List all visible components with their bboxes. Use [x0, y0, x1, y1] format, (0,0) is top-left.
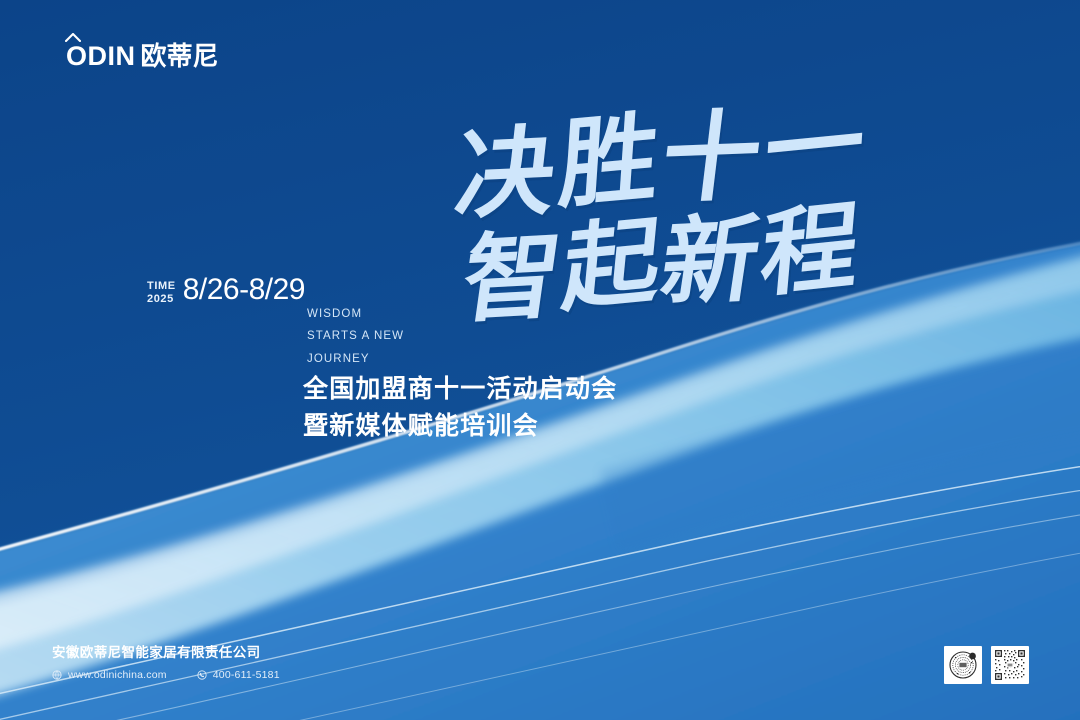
english-tagline: WISDOM STARTS A NEW JOURNEY [307, 303, 404, 370]
time-label: TIME 2025 [147, 275, 176, 306]
headline-char: 智 [457, 227, 569, 328]
footer-block: 安徽欧蒂尼智能家居有限责任公司 www.odinichina.com 400-6… [52, 644, 280, 681]
mini-program-qr[interactable] [991, 646, 1029, 684]
headline-char: 十 [656, 107, 770, 209]
headline-calligraphy: 决胜十一 智起新程 [440, 104, 940, 344]
headline-char: 起 [558, 212, 667, 317]
event-date-block: TIME 2025 8/26-8/29 [147, 275, 305, 306]
time-label-word: TIME [147, 280, 176, 293]
headline-char: 胜 [556, 108, 666, 215]
round-qr-icon [946, 648, 980, 682]
contact-line: www.odinichina.com 400-611-5181 [52, 669, 280, 681]
headline-char: 一 [762, 94, 871, 202]
headline-char: 决 [451, 123, 565, 226]
brand-logo: ODIN 欧蒂尼 [66, 43, 219, 70]
brand-logo-latin-text: ODIN [66, 41, 136, 71]
date-range: 8/26-8/29 [183, 275, 305, 305]
square-qr-icon [993, 648, 1027, 682]
wechat-official-account-qr[interactable] [944, 646, 982, 684]
company-name: 安徽欧蒂尼智能家居有限责任公司 [52, 644, 280, 663]
website-text[interactable]: www.odinichina.com [68, 669, 167, 681]
english-tagline-line-2: STARTS A NEW [307, 325, 404, 347]
event-subtitle: 全国加盟商十一活动启动会 暨新媒体赋能培训会 [303, 370, 617, 444]
brand-logo-latin: ODIN [66, 43, 136, 70]
time-label-year: 2025 [147, 293, 176, 306]
event-subtitle-line-1: 全国加盟商十一活动启动会 [303, 370, 617, 407]
phone-text[interactable]: 400-611-5181 [213, 669, 280, 681]
english-tagline-line-3: JOURNEY [307, 348, 404, 370]
headline-char: 程 [757, 197, 865, 303]
headline-char: 新 [655, 211, 768, 311]
brand-logo-cjk: 欧蒂尼 [141, 44, 219, 70]
poster-canvas: ODIN 欧蒂尼 决胜十一 智起新程 TIME 2025 8/26-8/29 W… [0, 0, 1080, 720]
english-tagline-line-1: WISDOM [307, 303, 404, 325]
qr-code-group [944, 646, 1029, 684]
phone-icon [197, 670, 207, 680]
globe-icon [52, 670, 62, 680]
circumflex-accent-icon [65, 33, 81, 42]
event-subtitle-line-2: 暨新媒体赋能培训会 [303, 407, 617, 444]
